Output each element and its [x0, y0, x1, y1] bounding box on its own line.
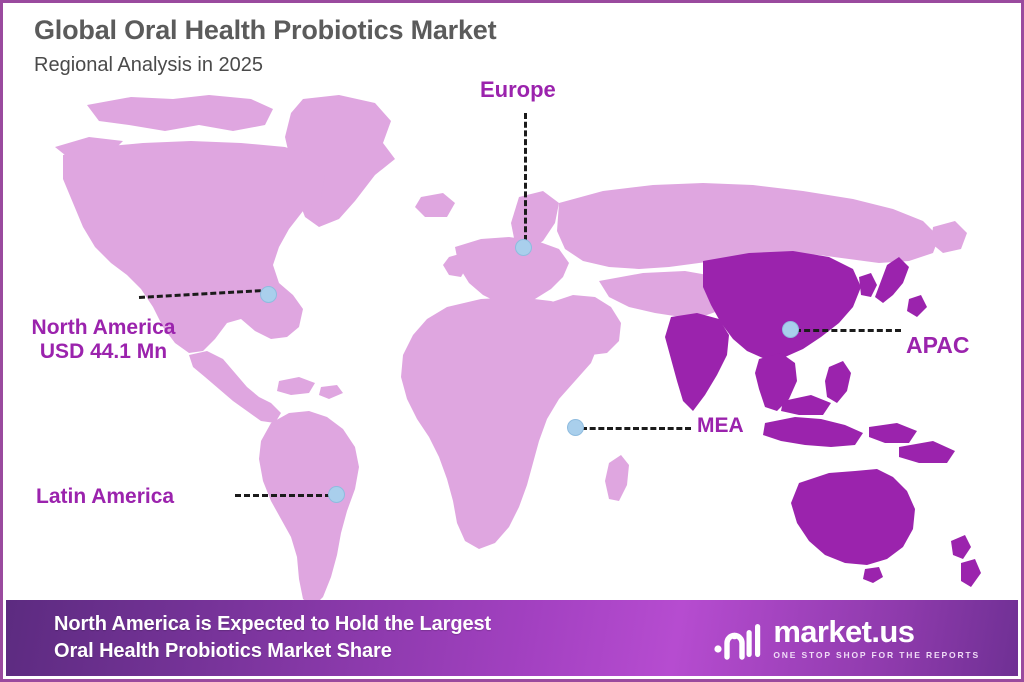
leader-line-europe [524, 113, 527, 241]
map-marker-europe[interactable] [515, 239, 532, 256]
leader-line-latin-america [235, 494, 331, 497]
map-marker-latin-america[interactable] [328, 486, 345, 503]
footer-headline-line1: North America is Expected to Hold the La… [54, 611, 491, 638]
map-marker-mea[interactable] [567, 419, 584, 436]
market-us-logo-mark-icon [714, 616, 762, 660]
region-label-north-america-value: USD 44.1 Mn [8, 340, 199, 364]
region-label-europe: Europe [480, 78, 556, 103]
map-marker-apac[interactable] [782, 321, 799, 338]
brand-logo-text: market.us ONE STOP SHOP FOR THE REPORTS [773, 616, 980, 660]
region-label-north-america: North America USD 44.1 Mn [8, 316, 199, 363]
region-label-europe-name: Europe [480, 78, 556, 103]
region-label-mea: MEA [697, 414, 744, 438]
page-title: Global Oral Health Probiotics Market [34, 15, 496, 47]
brand-tagline: ONE STOP SHOP FOR THE REPORTS [773, 651, 980, 660]
brand-name: market.us [773, 616, 980, 647]
region-label-latin-america-name: Latin America [36, 485, 174, 509]
page-subtitle: Regional Analysis in 2025 [34, 54, 496, 78]
leader-line-mea [581, 427, 691, 430]
footer-headline-line2: Oral Health Probiotics Market Share [54, 638, 491, 665]
infographic-root: Global Oral Health Probiotics Market Reg… [0, 0, 1024, 682]
footer-banner: North America is Expected to Hold the La… [6, 600, 1018, 676]
region-label-latin-america: Latin America [36, 485, 174, 509]
footer-headline: North America is Expected to Hold the La… [54, 611, 491, 664]
map-marker-north-america[interactable] [260, 286, 277, 303]
region-label-apac: APAC [906, 333, 969, 359]
region-label-apac-name: APAC [906, 333, 969, 359]
leader-line-apac [795, 329, 901, 332]
region-label-mea-name: MEA [697, 414, 744, 438]
header: Global Oral Health Probiotics Market Reg… [34, 15, 496, 77]
region-label-north-america-name: North America [8, 316, 199, 340]
brand-logo[interactable]: market.us ONE STOP SHOP FOR THE REPORTS [714, 616, 998, 660]
